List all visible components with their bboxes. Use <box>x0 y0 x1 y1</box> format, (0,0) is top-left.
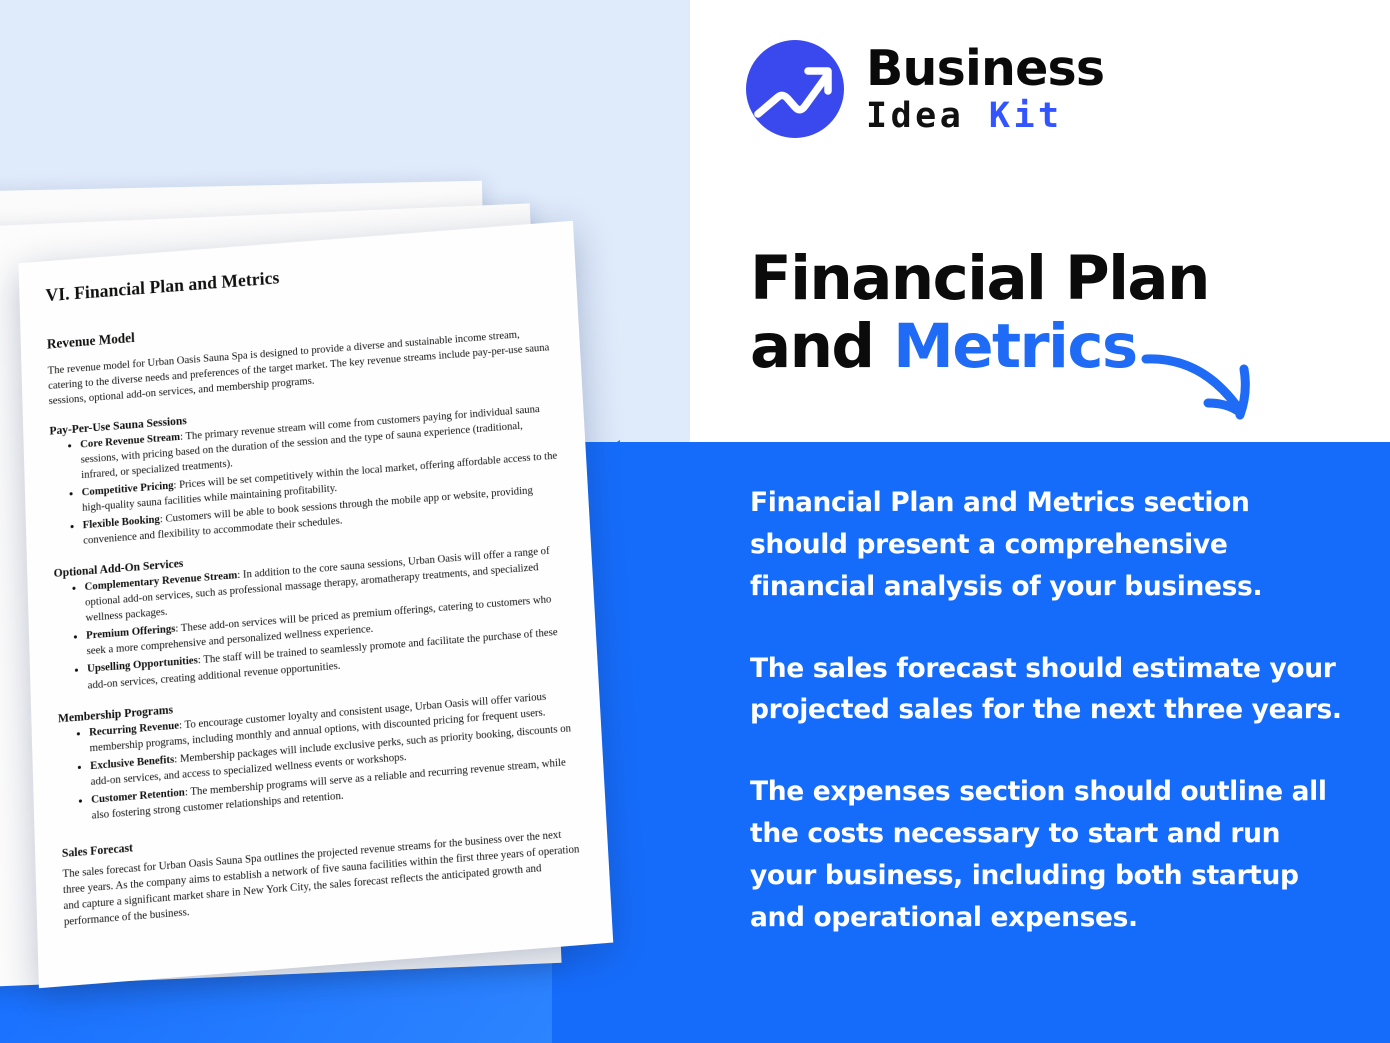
panel-paragraph-3: The expenses section should outline all … <box>750 771 1350 938</box>
trend-up-circle-icon <box>746 40 844 138</box>
brand-name-idea: Idea <box>866 96 964 136</box>
page-title-line1: Financial Plan <box>750 243 1209 314</box>
page-title-accent: Metrics <box>893 311 1137 382</box>
panel-paragraph-1: Financial Plan and Metrics section shoul… <box>750 482 1350 608</box>
list-item-term: Flexible Booking <box>83 514 160 531</box>
list-item-term: Exclusive Benefits <box>90 754 174 772</box>
brand-name-line2: Idea Kit <box>866 99 1104 134</box>
brand-name-kit: Kit <box>989 96 1063 136</box>
document-body: VI. Financial Plan and Metrics Revenue M… <box>19 221 612 957</box>
panel-paragraph-2: The sales forecast should estimate your … <box>750 648 1350 732</box>
document-title: VI. Financial Plan and Metrics <box>45 247 549 307</box>
poster-canvas: V Re The inc stre Pay Op M S <box>0 0 1390 1043</box>
document-paper-stack: V Re The inc stre Pay Op M S <box>0 0 760 1043</box>
curved-arrow-down-right-icon <box>1140 345 1290 435</box>
brand-logo[interactable]: Business Idea Kit <box>746 40 1104 138</box>
brand-name-line1: Business <box>866 44 1104 93</box>
brand-wordmark: Business Idea Kit <box>866 44 1104 134</box>
panel-body-copy: Financial Plan and Metrics section shoul… <box>750 482 1350 939</box>
document-sheet-front: VI. Financial Plan and Metrics Revenue M… <box>19 221 614 988</box>
page-title-and: and <box>750 311 893 382</box>
